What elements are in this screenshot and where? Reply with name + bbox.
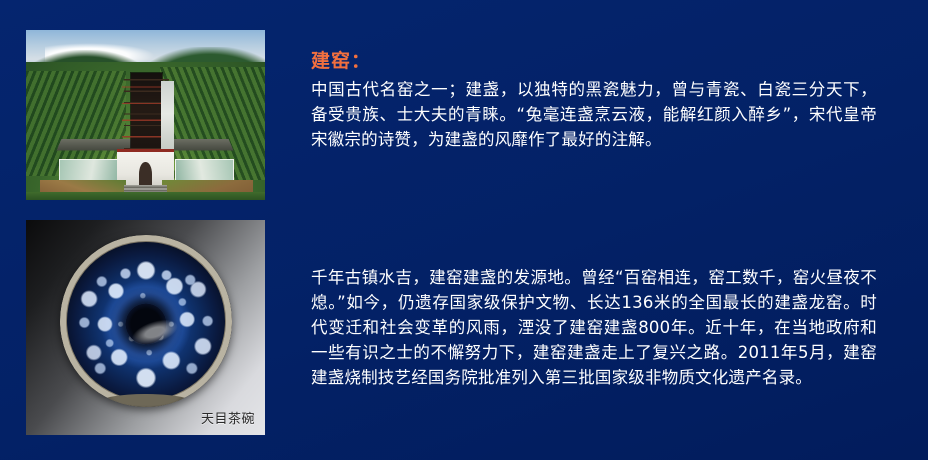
bowl-photo-caption: 天目茶碗 [201, 408, 255, 427]
bowl-rim-highlight [60, 235, 232, 407]
dragon-kiln-aerial-photo [26, 30, 265, 200]
text-column-top: 建窑： 中国古代名窑之一；建盏，以独特的黑瓷魅力，曾与青瓷、白瓷三分天下，备受贵… [311, 48, 877, 152]
paragraph-two: 千年古镇水吉，建窑建盏的发源地。曾经“百窑相连，窑工数千，窑火昼夜不熄。”如今，… [311, 265, 877, 390]
kiln-roof-structure [131, 73, 162, 161]
foreground-foliage [26, 192, 265, 201]
bowl-foot-shadow [101, 394, 190, 407]
text-column-bottom: 千年古镇水吉，建窑建盏的发源地。曾经“百窑相连，窑工数千，窑火昼夜不熄。”如今，… [311, 265, 877, 390]
slide-canvas: 天目茶碗 建窑： 中国古代名窑之一；建盏，以独特的黑瓷魅力，曾与青瓷、白瓷三分天… [0, 0, 928, 460]
tea-bowl [60, 235, 232, 407]
tenmoku-tea-bowl-photo: 天目茶碗 [26, 220, 265, 435]
page-title: 建窑： [311, 48, 877, 74]
paragraph-one: 中国古代名窑之一；建盏，以独特的黑瓷魅力，曾与青瓷、白瓷三分天下，备受贵族、士大… [311, 77, 877, 152]
